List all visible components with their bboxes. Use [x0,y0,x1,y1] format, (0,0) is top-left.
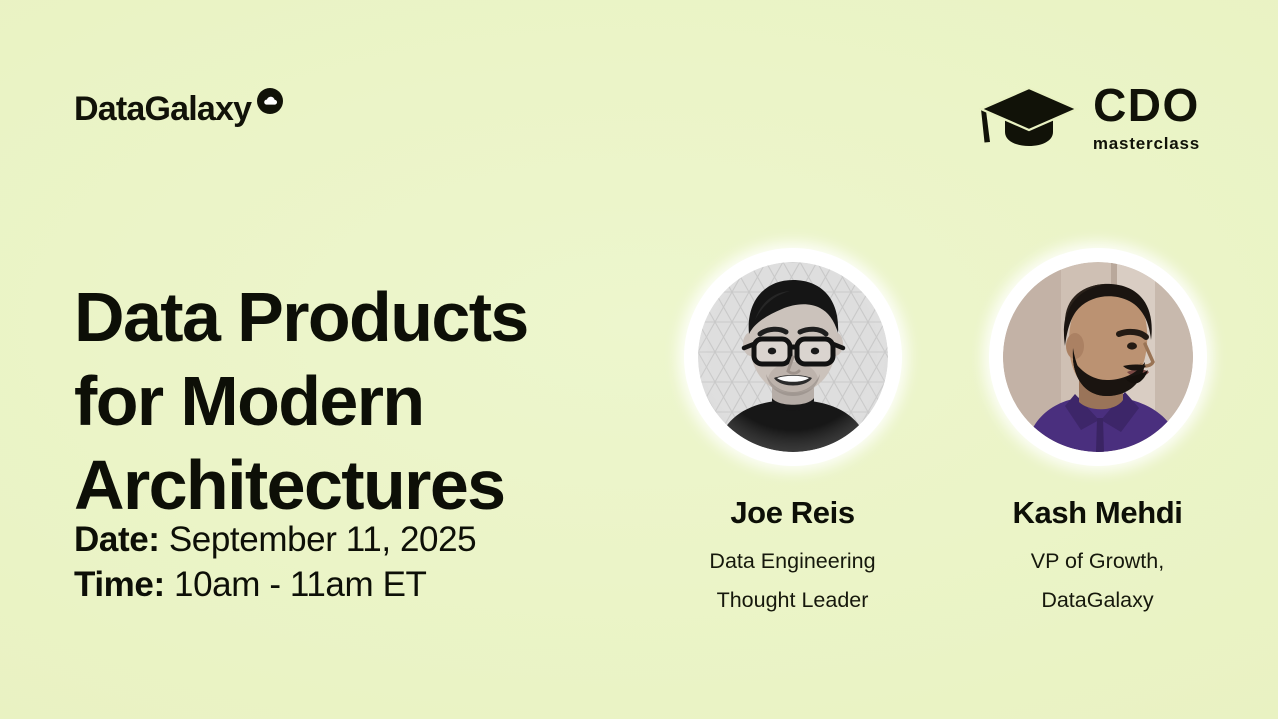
speaker-role-line-2: Thought Leader [709,581,875,620]
cdo-title: CDO [1093,82,1200,128]
speaker-role: Data Engineering Thought Leader [709,542,875,620]
headline-line-2: for Modern [74,359,674,443]
speaker-card-joe-reis: Joe Reis Data Engineering Thought Leader [660,248,925,620]
cloud-in-circle-icon [257,88,283,114]
speaker-role: VP of Growth, DataGalaxy [1031,542,1164,620]
datagalaxy-wordmark: DataGalaxy [74,92,251,126]
cdo-text-block: CDO masterclass [1093,82,1200,152]
speakers-section: Joe Reis Data Engineering Thought Leader [660,248,1230,620]
headline-line-3: Architectures [74,443,674,527]
event-date-row: Date: September 11, 2025 [74,518,476,563]
event-date-label: Date: [74,520,160,559]
speaker-role-line-2: DataGalaxy [1031,581,1164,620]
speaker-role-line-1: VP of Growth, [1031,542,1164,581]
cdo-masterclass-logo: CDO masterclass [979,82,1200,152]
datagalaxy-logo: DataGalaxy [74,92,283,126]
headline: Data Products for Modern Architectures [74,275,674,527]
joe-reis-portrait [698,262,888,452]
avatar-ring [989,248,1207,466]
event-time-label: Time: [74,565,165,604]
speaker-name: Kash Mehdi [1013,496,1183,530]
event-time-value: 10am - 11am ET [174,565,426,604]
avatar-ring [684,248,902,466]
avatar [1003,262,1193,452]
event-time-row: Time: 10am - 11am ET [74,563,476,608]
kash-mehdi-portrait [1003,262,1193,452]
speaker-role-line-1: Data Engineering [709,542,875,581]
graduation-cap-icon [979,86,1079,148]
avatar [698,262,888,452]
event-details: Date: September 11, 2025 Time: 10am - 11… [74,518,476,608]
event-date-value: September 11, 2025 [169,520,476,559]
cdo-subtitle: masterclass [1093,135,1200,152]
headline-line-1: Data Products [74,275,674,359]
webinar-promo-slide: DataGalaxy CDO masterclass Data Products… [0,0,1278,719]
speaker-card-kash-mehdi: Kash Mehdi VP of Growth, DataGalaxy [965,248,1230,620]
speaker-name: Joe Reis [730,496,854,530]
